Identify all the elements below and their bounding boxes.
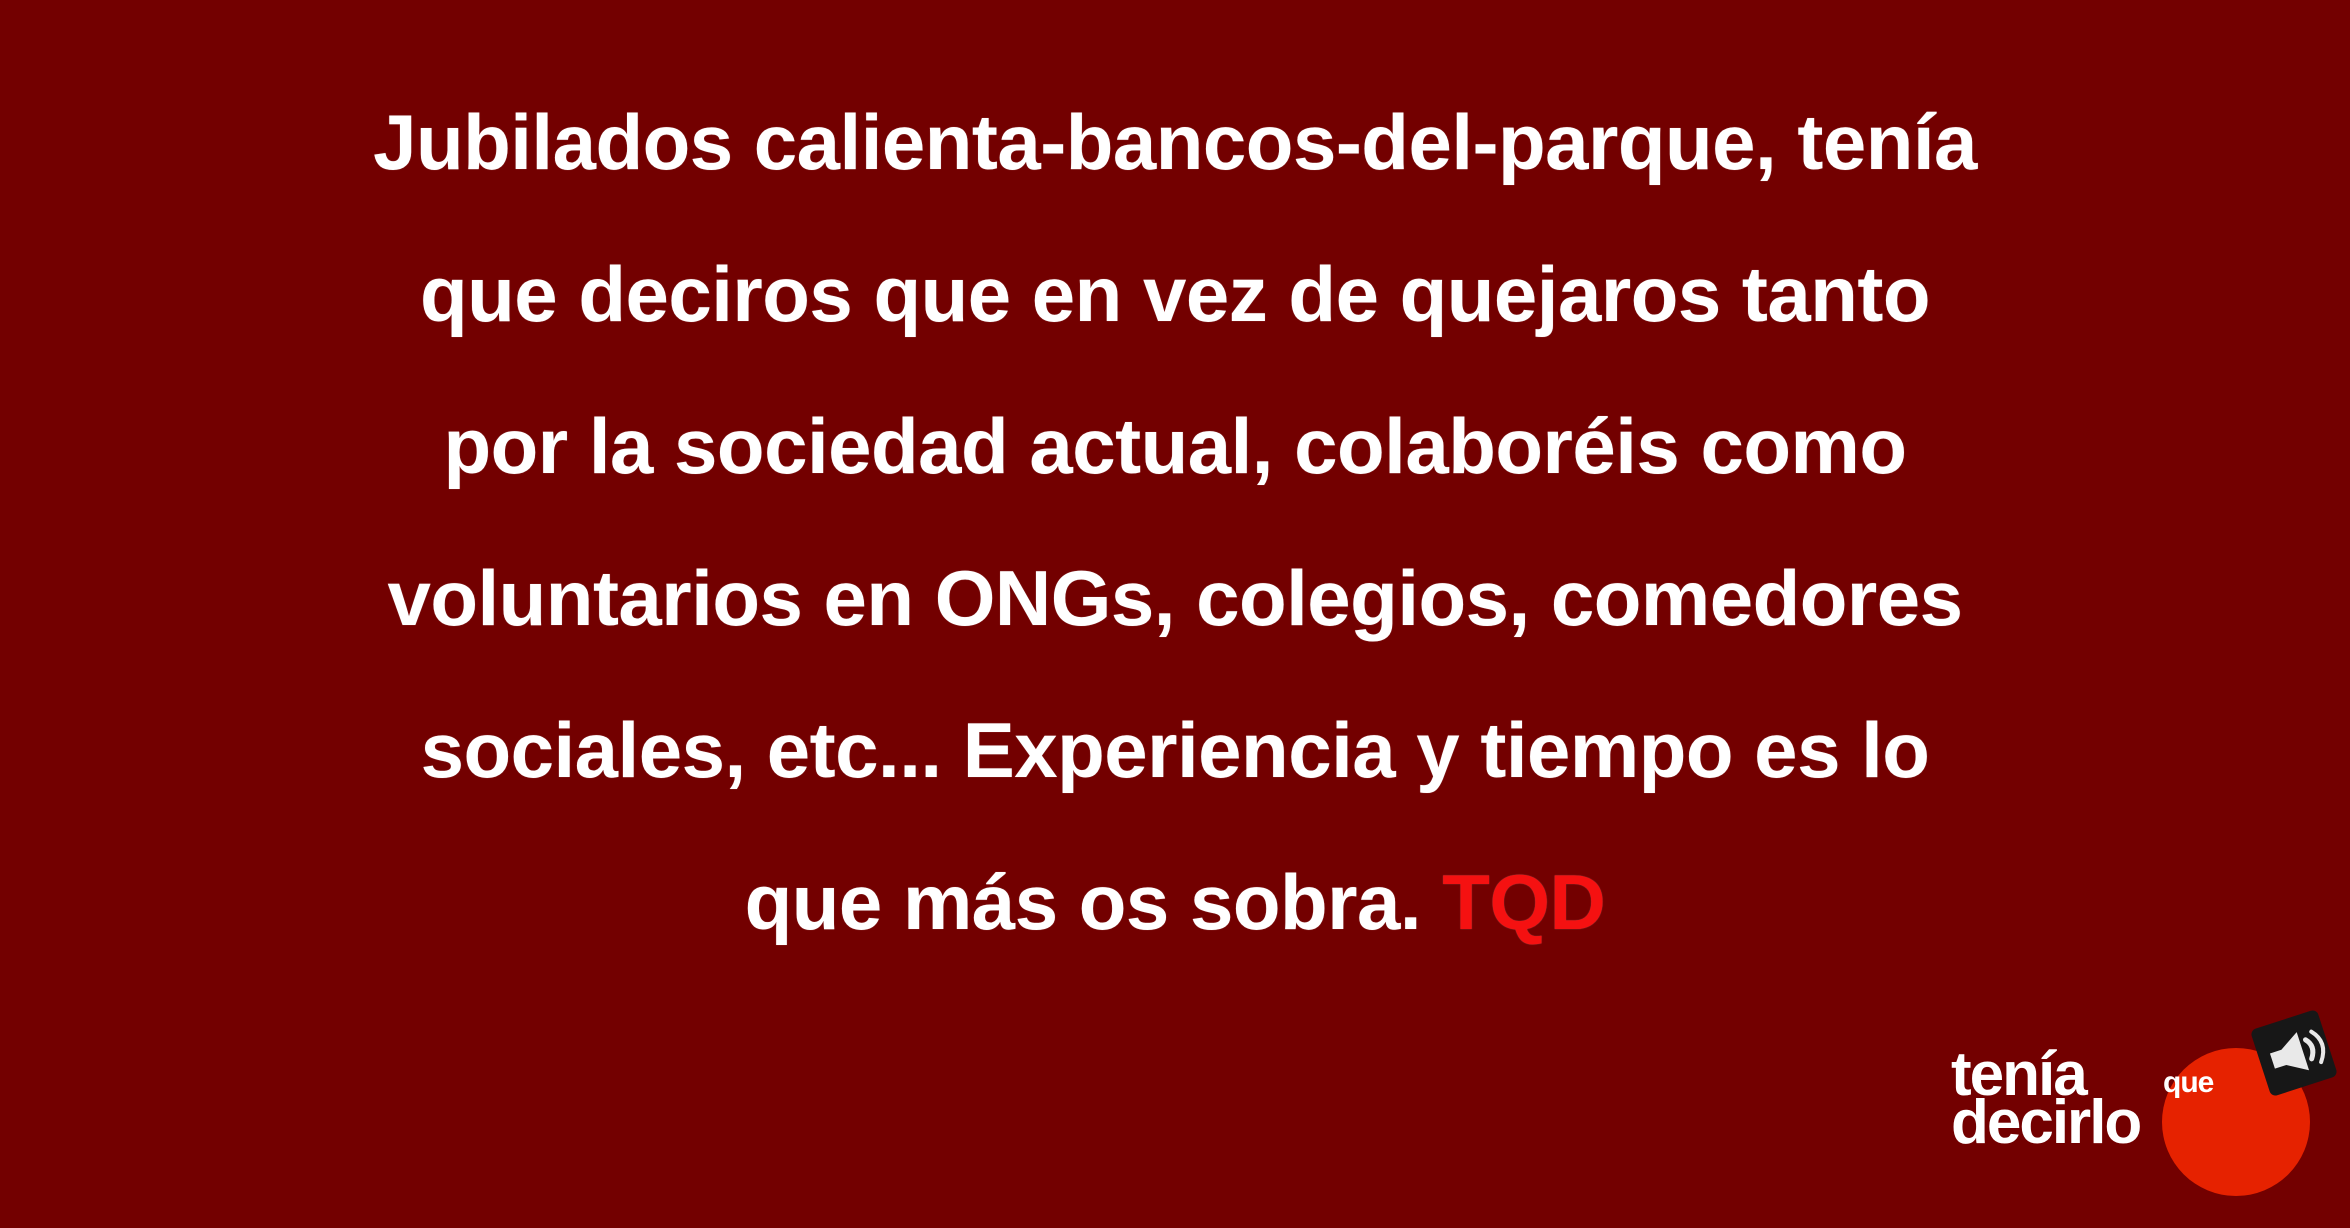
quote-text-block: Jubilados calienta-bancos-del-parque, te… bbox=[170, 66, 2180, 978]
quote-line-3: por la sociedad actual, colaboréis como bbox=[170, 370, 2180, 522]
logo-line-decirlo: decirlo bbox=[1951, 1092, 2140, 1154]
tqd-logo[interactable]: tenía que decirlo bbox=[1945, 1016, 2335, 1216]
tqd-signature: TQD bbox=[1442, 858, 1605, 946]
logo-superscript-que: que bbox=[2163, 1068, 2213, 1098]
quote-line-6-text: que más os sobra. bbox=[745, 858, 1421, 946]
tqd-quote-card: Jubilados calienta-bancos-del-parque, te… bbox=[0, 0, 2350, 1228]
quote-line-6: que más os sobra. TQD bbox=[170, 826, 2180, 978]
quote-line-2: que deciros que en vez de quejaros tanto bbox=[170, 218, 2180, 370]
quote-line-4: voluntarios en ONGs, colegios, comedores bbox=[170, 522, 2180, 674]
quote-line-5: sociales, etc... Experiencia y tiempo es… bbox=[170, 674, 2180, 826]
quote-line-1: Jubilados calienta-bancos-del-parque, te… bbox=[170, 66, 2180, 218]
